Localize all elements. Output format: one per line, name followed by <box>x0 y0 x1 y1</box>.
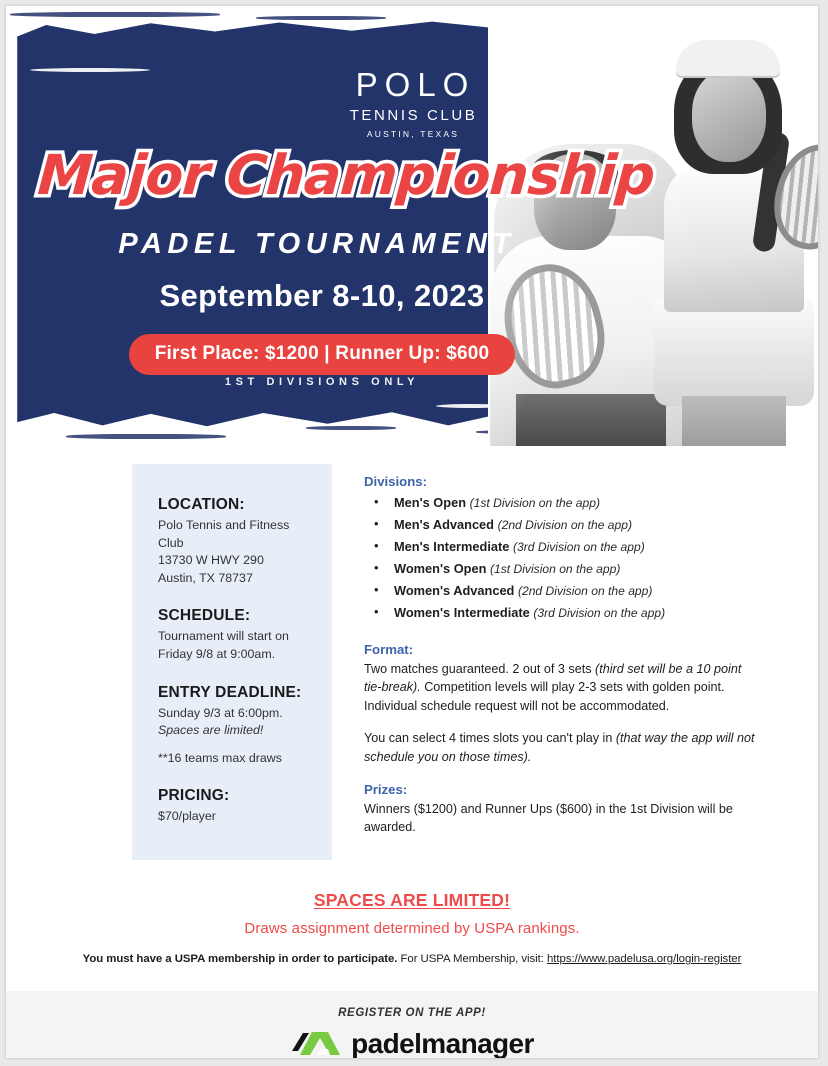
division-name: Women's Advanced <box>394 583 514 598</box>
division-name: Men's Advanced <box>394 517 494 532</box>
list-item: Men's Advanced (2nd Division on the app) <box>364 514 762 536</box>
schedule-line: Friday 9/8 at 9:00am. <box>158 646 312 664</box>
divisions-only-note: 1ST DIVISIONS ONLY <box>6 376 818 388</box>
division-note: (2nd Division on the app) <box>518 584 652 598</box>
membership-bold: You must have a USPA membership in order… <box>83 953 398 965</box>
brush-stroke-accent <box>10 12 220 17</box>
location-heading: LOCATION: <box>158 496 312 514</box>
pricing-heading: PRICING: <box>158 787 312 805</box>
page-background: POLO TENNIS CLUB AUSTIN, TEXAS Major Cha… <box>0 0 828 1066</box>
division-name: Women's Open <box>394 561 486 576</box>
padelmanager-logo[interactable]: padelmanager <box>290 1028 534 1058</box>
spaces-limited-banner: SPACES ARE LIMITED! Draws assignment det… <box>6 890 818 965</box>
divisions-heading: Divisions: <box>364 474 762 489</box>
prize-badge: First Place: $1200 | Runner Up: $600 <box>129 334 516 375</box>
club-logo: POLO TENNIS CLUB AUSTIN, TEXAS <box>6 68 818 139</box>
event-title: Major Championship <box>36 148 656 203</box>
club-logo-subtitle: TENNIS CLUB <box>9 107 818 124</box>
division-name: Women's Intermediate <box>394 605 530 620</box>
list-item: Women's Advanced (2nd Division on the ap… <box>364 580 762 602</box>
spaces-limited-title: SPACES ARE LIMITED! <box>6 890 818 911</box>
club-logo-city: AUSTIN, TEXAS <box>8 129 818 139</box>
list-item: Men's Open (1st Division on the app) <box>364 492 762 514</box>
divisions-list: Men's Open (1st Division on the app) Men… <box>364 492 762 624</box>
entry-deadline-line: Sunday 9/3 at 6:00pm. <box>158 705 312 723</box>
membership-rest: For USPA Membership, visit: <box>397 953 547 965</box>
entry-deadline-note: **16 teams max draws <box>158 750 312 768</box>
event-subtitle: PADEL TOURNAMENT <box>6 228 818 261</box>
division-note: (1st Division on the app) <box>490 562 620 576</box>
list-item: Women's Intermediate (3rd Division on th… <box>364 602 762 624</box>
prizes-text: Winners ($1200) and Runner Ups ($600) in… <box>364 800 762 837</box>
division-name: Men's Open <box>394 495 466 510</box>
tournament-flyer: POLO TENNIS CLUB AUSTIN, TEXAS Major Cha… <box>6 6 818 1058</box>
info-box: LOCATION: Polo Tennis and Fitness Club 1… <box>132 464 332 860</box>
schedule-heading: SCHEDULE: <box>158 607 312 625</box>
details-columns: LOCATION: Polo Tennis and Fitness Club 1… <box>6 464 818 860</box>
info-block-pricing: PRICING: $70/player <box>158 787 312 826</box>
list-item: Men's Intermediate (3rd Division on the … <box>364 536 762 558</box>
event-date: September 8-10, 2023 <box>6 278 818 314</box>
division-note: (3rd Division on the app) <box>533 606 665 620</box>
format-text-a: Two matches guaranteed. 2 out of 3 sets <box>364 662 595 676</box>
division-name: Men's Intermediate <box>394 539 509 554</box>
female-player-legs <box>682 396 786 446</box>
location-line: Polo Tennis and Fitness Club <box>158 517 312 552</box>
padelmanager-mark-icon <box>290 1029 342 1058</box>
male-player-shorts <box>516 394 666 446</box>
membership-note: You must have a USPA membership in order… <box>6 953 818 965</box>
brush-stroke-accent <box>66 434 226 439</box>
division-note: (3rd Division on the app) <box>513 540 645 554</box>
register-app-band: REGISTER ON THE APP! padelmanager <box>6 991 818 1058</box>
padelmanager-wordmark: padelmanager <box>351 1028 534 1058</box>
info-block-entry-deadline: ENTRY DEADLINE: Sunday 9/3 at 6:00pm. Sp… <box>158 684 312 768</box>
brush-stroke-accent <box>256 16 386 20</box>
timeslot-text-a: You can select 4 times slots you can't p… <box>364 731 616 745</box>
prize-badge-container: First Place: $1200 | Runner Up: $600 <box>6 334 818 375</box>
location-line: 13730 W HWY 290 <box>158 552 312 570</box>
division-note: (1st Division on the app) <box>470 496 600 510</box>
format-paragraph-1: Two matches guaranteed. 2 out of 3 sets … <box>364 660 762 715</box>
schedule-line: Tournament will start on <box>158 628 312 646</box>
right-column: Divisions: Men's Open (1st Division on t… <box>364 464 762 837</box>
brush-stroke-accent <box>306 426 396 430</box>
info-block-schedule: SCHEDULE: Tournament will start on Frida… <box>158 607 312 663</box>
register-on-app-label: REGISTER ON THE APP! <box>6 1007 818 1019</box>
format-heading: Format: <box>364 642 762 657</box>
division-note: (2nd Division on the app) <box>498 518 632 532</box>
club-logo-name: POLO <box>13 68 818 101</box>
info-block-location: LOCATION: Polo Tennis and Fitness Club 1… <box>158 496 312 587</box>
list-item: Women's Open (1st Division on the app) <box>364 558 762 580</box>
draws-assignment-note: Draws assignment determined by USPA rank… <box>6 920 818 937</box>
pricing-line: $70/player <box>158 808 312 826</box>
body-content: LOCATION: Polo Tennis and Fitness Club 1… <box>6 446 818 1058</box>
location-line: Austin, TX 78737 <box>158 570 312 588</box>
entry-deadline-italic: Spaces are limited! <box>158 722 312 740</box>
uspa-membership-link[interactable]: https://www.padelusa.org/login-register <box>547 953 741 965</box>
hero-section: POLO TENNIS CLUB AUSTIN, TEXAS Major Cha… <box>6 6 818 446</box>
entry-deadline-heading: ENTRY DEADLINE: <box>158 684 312 702</box>
prizes-heading: Prizes: <box>364 782 762 797</box>
format-paragraph-2: You can select 4 times slots you can't p… <box>364 729 762 766</box>
